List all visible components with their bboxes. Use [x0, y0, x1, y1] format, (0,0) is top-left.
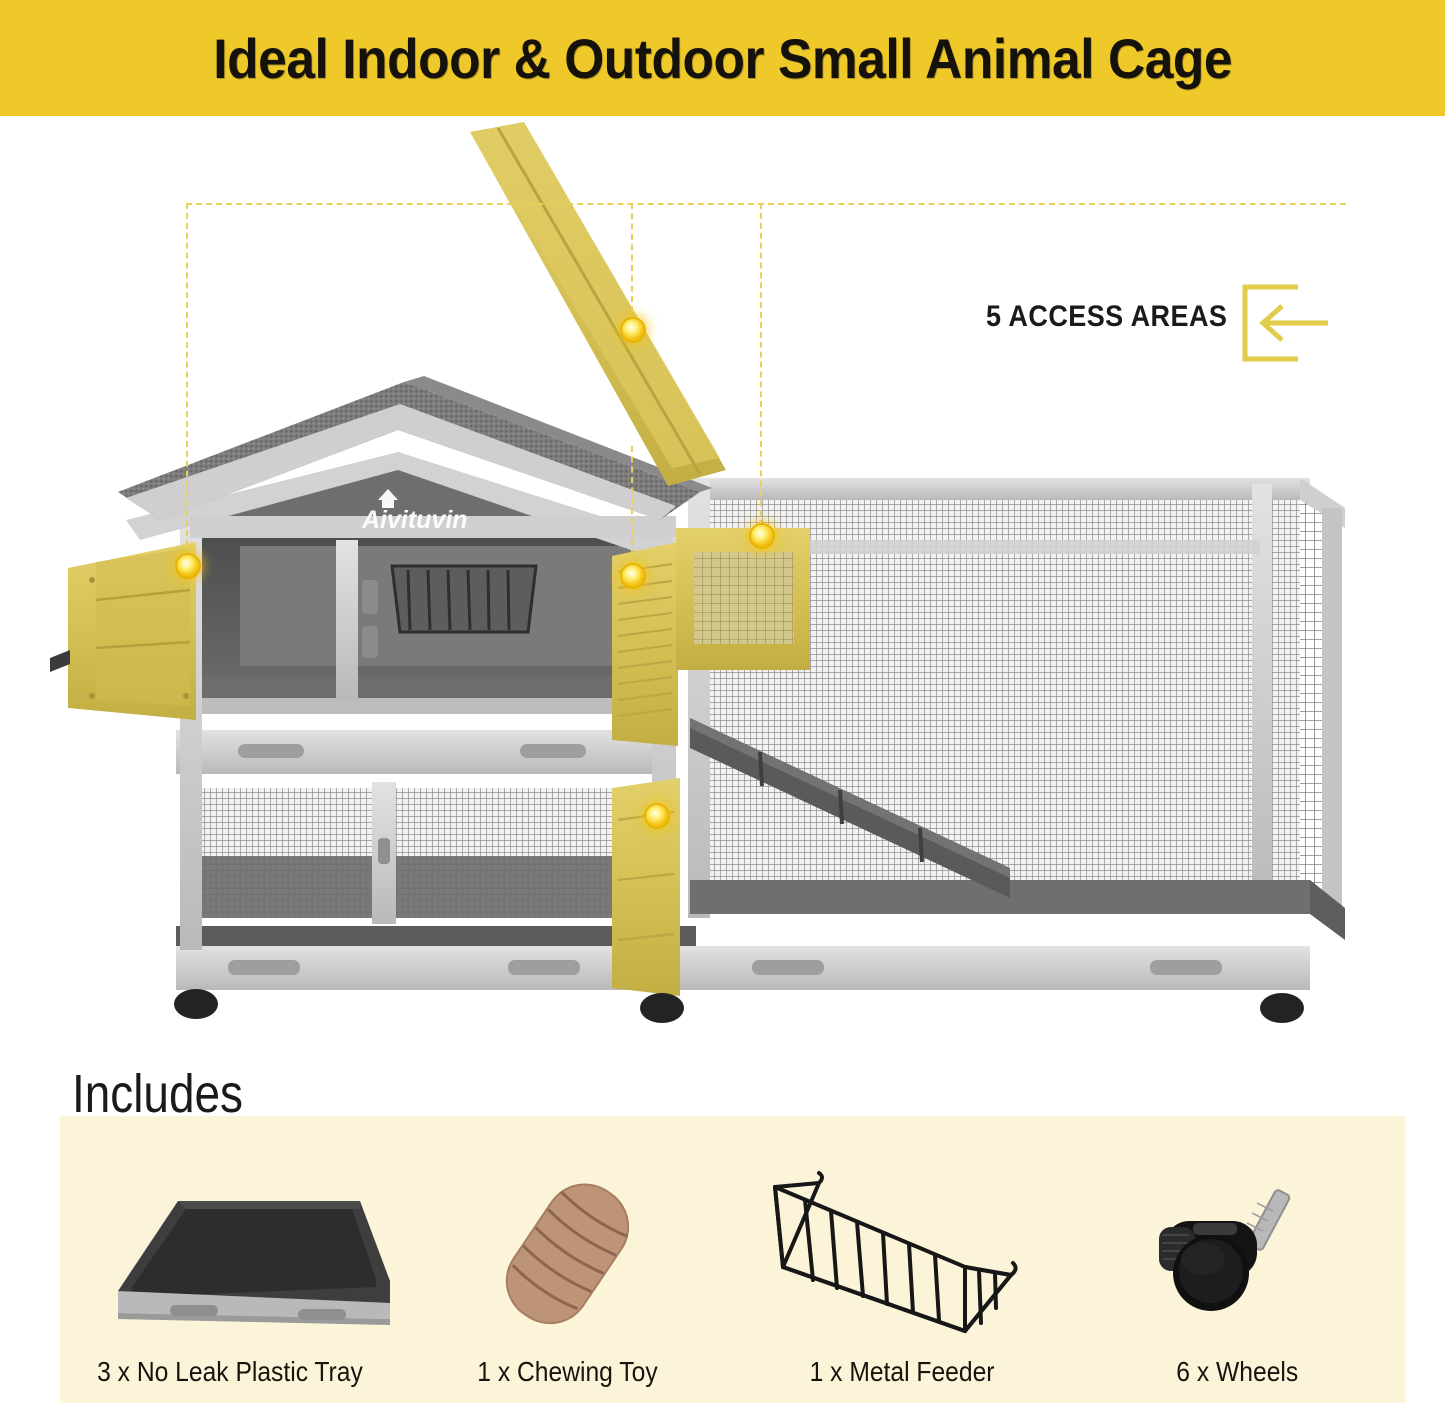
includes-heading: Includes	[72, 1063, 243, 1125]
marker-left-front-door-access	[175, 553, 201, 579]
include-item-metal-feeder: 1 x Metal Feeder	[735, 1128, 1070, 1408]
includes-grid: 3 x No Leak Plastic Tray 1 x Chewin	[60, 1128, 1405, 1408]
include-caption: 1 x Metal Feeder	[810, 1356, 995, 1388]
callout-layer: 5 ACCESS AREAS	[0, 116, 1445, 1056]
include-item-plastic-tray: 3 x No Leak Plastic Tray	[60, 1128, 400, 1408]
access-enter-icon	[1240, 284, 1334, 362]
access-areas-label: 5 ACCESS AREAS	[986, 300, 1227, 334]
include-caption: 3 x No Leak Plastic Tray	[97, 1356, 363, 1388]
callout-line-left	[186, 203, 188, 566]
include-caption: 1 x Chewing Toy	[477, 1356, 657, 1388]
include-item-chewing-toy: 1 x Chewing Toy	[400, 1128, 735, 1408]
marker-lower-level-door-access	[644, 803, 670, 829]
wheels-icon	[1070, 1158, 1405, 1348]
marker-side-mesh-door-access	[749, 523, 775, 549]
include-item-wheels: 6 x Wheels	[1070, 1128, 1405, 1408]
marker-center-front-door-access	[620, 563, 646, 589]
metal-feeder-icon	[735, 1158, 1070, 1348]
include-caption: 6 x Wheels	[1177, 1356, 1299, 1388]
chewing-toy-icon	[400, 1158, 735, 1348]
marker-roof-lid-access	[620, 317, 646, 343]
plastic-tray-icon	[60, 1158, 400, 1348]
callout-line-mid	[631, 203, 633, 333]
callout-line-right	[760, 203, 762, 536]
callout-line-mid2	[631, 446, 633, 576]
callout-line-horizontal	[186, 203, 1346, 205]
